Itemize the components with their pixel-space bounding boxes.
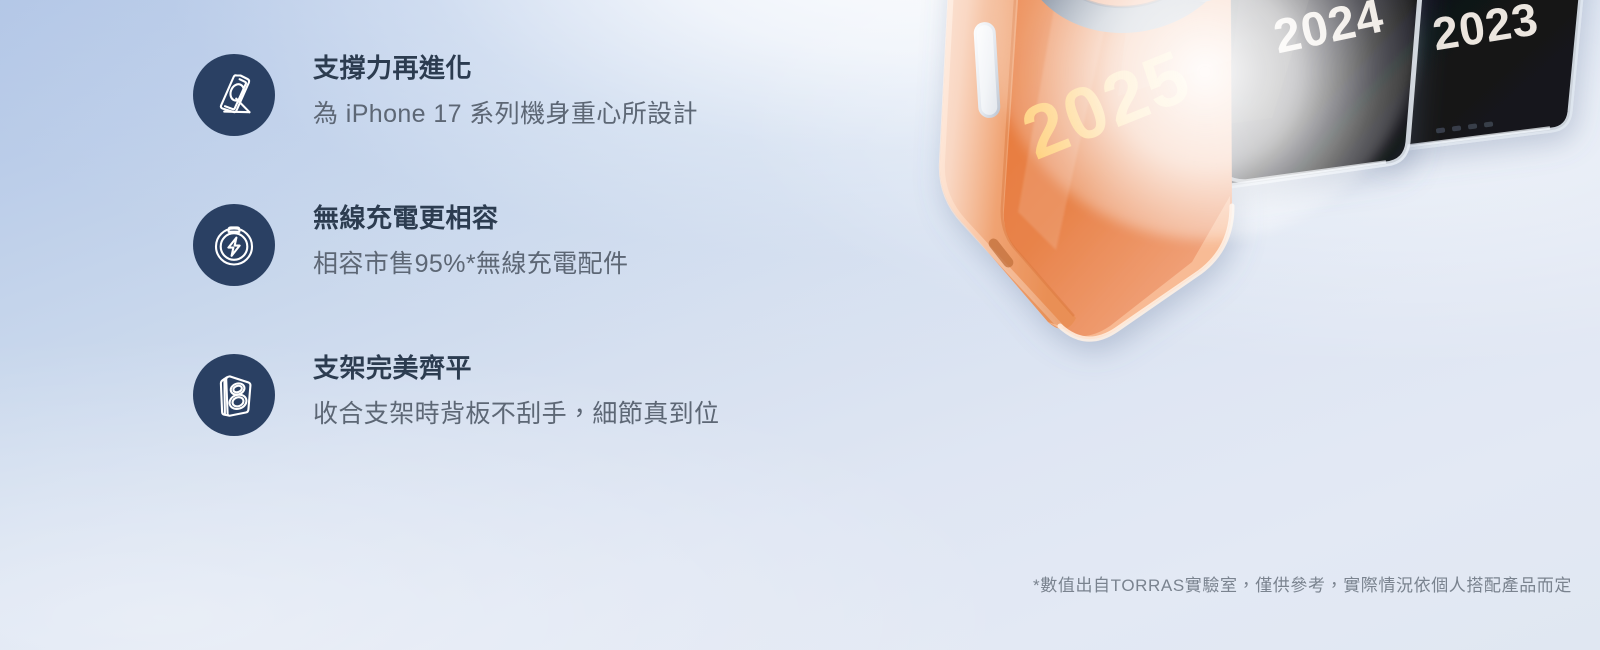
case-2024: 2024 [1210,0,1428,186]
feature-title: 無線充電更相容 [313,201,628,236]
feature-list: 支撐力再進化 為 iPhone 17 系列機身重心所設計 [193,46,853,496]
feature-desc: 收合支架時背板不刮手，細節真到位 [313,397,719,432]
feature-item-flush-stand: 支架完美齊平 收合支架時背板不刮手，細節真到位 [193,346,853,496]
magsafe-ring-stand [998,0,1262,56]
product-image: 2023 2024 [880,0,1600,560]
feature-text-support: 支撐力再進化 為 iPhone 17 系列機身重心所設計 [313,46,698,132]
feature-desc: 相容市售95%*無線充電配件 [313,247,628,282]
feature-text-flush-stand: 支架完美齊平 收合支架時背板不刮手，細節真到位 [313,346,719,432]
feature-title: 支架完美齊平 [313,351,719,386]
phone-back-flat-ring-icon [193,354,275,436]
feature-desc: 為 iPhone 17 系列機身重心所設計 [313,97,698,132]
feature-title: 支撐力再進化 [313,51,698,86]
wireless-charging-icon [193,204,275,286]
case-year-label-2024: 2024 [1269,0,1388,64]
product-glow [990,0,1420,240]
feature-text-wireless-charging: 無線充電更相容 相容市售95%*無線充電配件 [313,196,628,282]
phone-kickstand-icon [193,54,275,136]
case-year-label-2023: 2023 [1429,0,1542,60]
feature-item-wireless-charging: 無線充電更相容 相容市售95%*無線充電配件 [193,196,853,346]
case-year-label-2025: 2025 [1011,34,1202,176]
feature-banner: 2023 2024 [0,0,1600,650]
footnote-disclaimer: *數值出自TORRAS實驗室，僅供參考，實際情況依個人搭配產品而定 [1033,571,1572,596]
volume-button [973,21,1001,118]
case-2023: 2023 [1374,0,1588,150]
feature-item-support: 支撐力再進化 為 iPhone 17 系列機身重心所設計 [193,46,853,196]
case-2025: 2025 [940,0,1262,339]
